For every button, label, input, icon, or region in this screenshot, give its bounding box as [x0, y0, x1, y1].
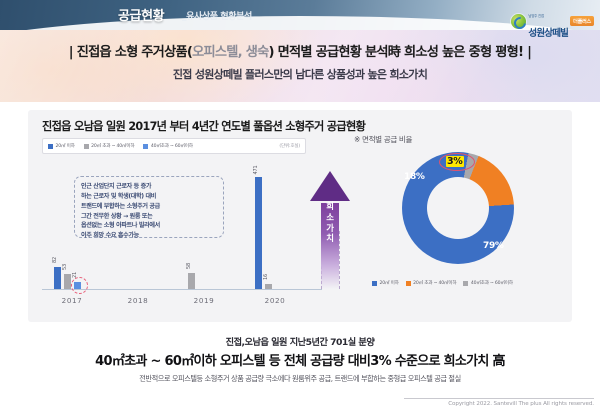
bar-2017-s0: 82 — [54, 267, 61, 289]
legend-label-1: 20㎡ 초과 ~ 40㎡이하 — [91, 143, 134, 149]
bar-group-2019: 58 — [188, 273, 195, 289]
chart-card-title: 진접읍 오남읍 일원 2017년 부터 4년간 연도별 풀옵션 소형주거 공급현… — [42, 118, 365, 134]
x-tick-2019: 2019 — [174, 296, 234, 305]
donut-legend-swatch-0 — [372, 281, 377, 286]
bar-2019-s1: 58 — [188, 273, 195, 289]
legend-label-2: 40㎡초과 ~ 60㎡이하 — [151, 143, 193, 149]
legend-unit-label: (단위:호실) — [279, 143, 300, 149]
donut-legend-item-1: 20㎡ 초과 ~ 40㎡이하 — [406, 280, 457, 286]
bar-chart-legend: 20㎡ 이하 20㎡ 초과 ~ 40㎡이하 40㎡초과 ~ 60㎡이하 (단위:… — [42, 138, 306, 154]
legend-item-0: 20㎡ 이하 — [48, 143, 75, 149]
bar-2020-s2: 16 — [265, 284, 272, 289]
donut-chart-block: ※ 면적별 공급 비율 79% 18% 3% 20㎡ 이하 20㎡ 초과 ~ 4… — [328, 134, 558, 314]
donut-legend-label-0: 20㎡ 이하 — [380, 280, 399, 286]
footer-copyright: Copyright 2022. Santevill The plus All r… — [0, 401, 594, 407]
bar-group-2020: 471 16 — [255, 177, 272, 289]
summary-line-2: 40㎡초과 ~ 60㎡이하 오피스텔 등 전체 공급량 대비3% 수준으로 희소… — [0, 350, 600, 369]
donut-legend-swatch-1 — [406, 281, 411, 286]
hero-subheadline: 진접 성원상떼빌 플러스만의 남다른 상품성과 높은 희소가치 — [0, 66, 600, 82]
page-title: 공급현황 — [118, 5, 164, 24]
logo-top-text: 남양주 진접 — [528, 14, 543, 18]
donut-legend-swatch-2 — [463, 281, 468, 286]
x-tick-2018: 2018 — [108, 296, 168, 305]
bar-2017-s1: 53 — [64, 274, 71, 289]
brand-logo: 남양주 진접 성원상떼빌 더플러스 — [511, 2, 594, 40]
legend-label-0: 20㎡ 이하 — [56, 143, 75, 149]
x-tick-2020: 2020 — [245, 296, 305, 305]
donut-legend-label-1: 20㎡ 초과 ~ 40㎡이하 — [413, 280, 456, 286]
callout-line-5: 이주 희망 수요 흡수가능 — [81, 231, 217, 241]
donut-label-18: 18% — [404, 172, 425, 182]
bar-value-2017-s0: 82 — [52, 257, 58, 263]
donut-label-3: 3% — [446, 156, 464, 167]
donut-chart-title: ※ 면적별 공급 비율 — [354, 134, 412, 145]
bar-value-2020-s0: 471 — [253, 166, 259, 175]
donut-legend-label-2: 40㎡초과 ~ 60㎡이하 — [471, 280, 513, 286]
bar-value-2020-s2: 16 — [263, 274, 269, 280]
legend-swatch-2 — [143, 144, 148, 149]
callout-line-0: 인근 산업단지 근로자 등 증가 — [81, 182, 217, 192]
page-subtitle: _유사상품 현황분석 — [182, 9, 252, 22]
bar-value-2019-s1: 58 — [186, 263, 192, 269]
legend-item-1: 20㎡ 초과 ~ 40㎡이하 — [84, 143, 135, 149]
donut-chart-legend: 20㎡ 이하 20㎡ 초과 ~ 40㎡이하 40㎡초과 ~ 60㎡이하 — [372, 280, 513, 286]
callout-line-3: 그간 전무한 상황 → 원룸 또는 — [81, 212, 217, 222]
summary-line-3: 전반적으로 오피스텔등 소형주거 상품 공급량 극소에다 원룸위주 공급, 트랜… — [0, 374, 600, 384]
bar-2020-s0: 471 — [255, 177, 262, 289]
logo-badge: 더플러스 — [570, 16, 594, 26]
logo-text-group: 남양주 진접 성원상떼빌 — [528, 2, 568, 40]
donut-label-79: 79% — [483, 241, 504, 251]
x-tick-2017: 2017 — [42, 296, 102, 305]
bar-chart-plot: 인근 산업단지 근로자 등 증가 하는 근로자 및 학생(대학) 대비 트랜드에… — [42, 158, 322, 308]
hero-headline-part-a: | 진접읍 소형 주거상품( — [69, 45, 192, 60]
legend-swatch-0 — [48, 144, 53, 149]
chart-card: 진접읍 오남읍 일원 2017년 부터 4년간 연도별 풀옵션 소형주거 공급현… — [28, 110, 572, 322]
legend-item-2: 40㎡초과 ~ 60㎡이하 — [143, 143, 192, 149]
insight-callout: 인근 산업단지 근로자 등 증가 하는 근로자 및 학생(대학) 대비 트랜드에… — [74, 176, 224, 238]
hero-headline-highlight: 오피스텔, 생숙 — [192, 45, 268, 60]
callout-line-1: 하는 근로자 및 학생(대학) 대비 — [81, 192, 217, 202]
donut-legend-item-2: 40㎡초과 ~ 60㎡이하 — [463, 280, 512, 286]
callout-line-2: 트랜드에 부합하는 소형주거 공급 — [81, 202, 217, 212]
slide-root: 공급현황 _유사상품 현황분석 남양주 진접 성원상떼빌 더플러스 | 진접읍 … — [0, 0, 600, 415]
hero-headline: | 진접읍 소형 주거상품(오피스텔, 생숙) 면적별 공급현황 분석時 희소성… — [0, 41, 600, 60]
logo-brand-name: 성원상떼빌 — [528, 28, 568, 39]
summary-line-1: 진접,오남읍 일원 지난5년간 701실 분양 — [0, 334, 600, 348]
hero-band: | 진접읍 소형 주거상품(오피스텔, 생숙) 면적별 공급현황 분석時 희소성… — [0, 30, 600, 102]
logo-mark-icon — [511, 14, 526, 29]
bar-value-2017-s1: 53 — [62, 264, 68, 270]
highlight-circle-2017 — [71, 277, 88, 294]
callout-line-4: 옵션없는 소형 아파트나 빌라에서 — [81, 221, 217, 231]
hero-headline-part-b: ) 면적별 공급현황 분석時 희소성 높은 중형 평형! | — [269, 45, 532, 60]
footer-divider — [404, 398, 594, 399]
slide-header-band: 공급현황 _유사상품 현황분석 — [0, 0, 600, 30]
donut-legend-item-0: 20㎡ 이하 — [372, 280, 399, 286]
legend-swatch-1 — [84, 144, 89, 149]
